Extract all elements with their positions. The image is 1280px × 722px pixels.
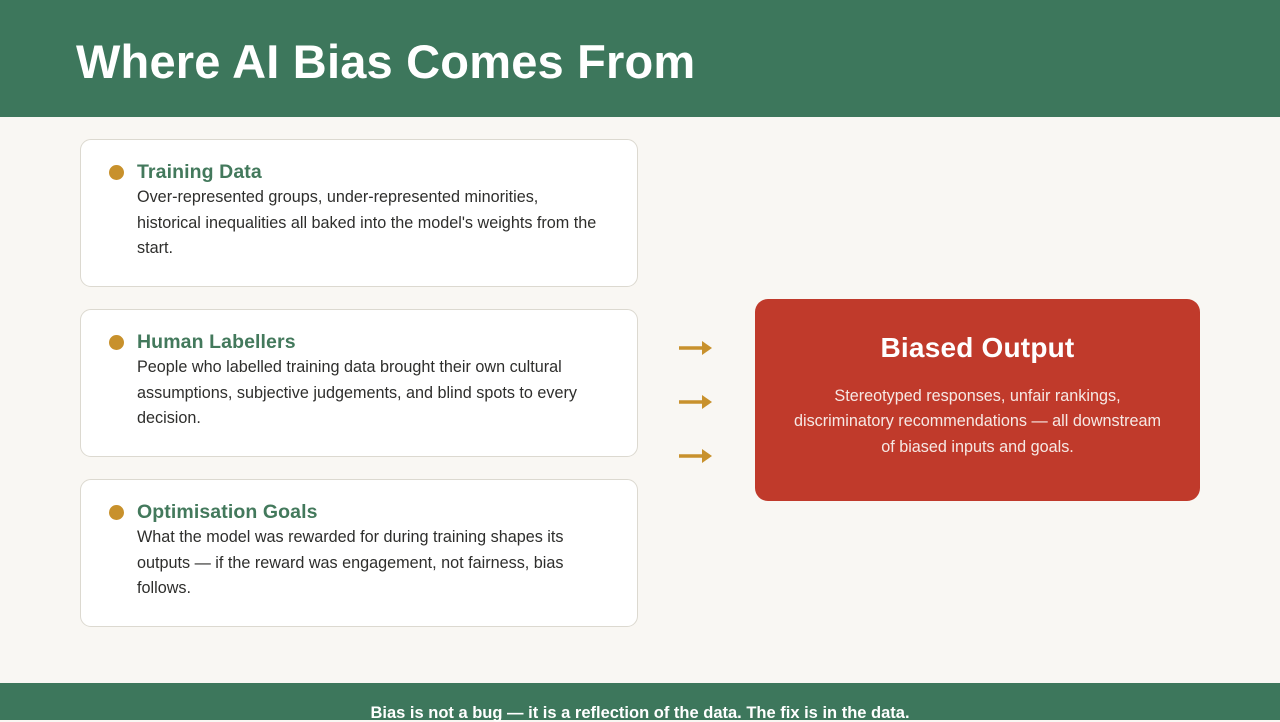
flow-arrow-group	[678, 337, 718, 467]
output-panel-title: Biased Output	[791, 333, 1164, 364]
bias-source-card-human-labellers[interactable]: Human Labellers People who labelled trai…	[80, 309, 638, 457]
page-title: Where AI Bias Comes From	[76, 38, 695, 85]
card-title: Training Data	[137, 162, 262, 183]
bias-source-card-optimisation-goals[interactable]: Optimisation Goals What the model was re…	[80, 479, 638, 627]
arrow-right-icon	[678, 337, 714, 359]
bias-source-card-list: Training Data Over-represented groups, u…	[80, 139, 638, 649]
page-footer: Bias is not a bug — it is a reflection o…	[0, 683, 1280, 720]
arrow-right-icon	[678, 445, 714, 467]
card-title: Human Labellers	[137, 332, 296, 353]
output-panel-description: Stereotyped responses, unfair rankings, …	[791, 384, 1164, 461]
dot-icon	[109, 505, 124, 520]
dot-icon	[109, 335, 124, 350]
bias-source-card-training-data[interactable]: Training Data Over-represented groups, u…	[80, 139, 638, 287]
card-header: Human Labellers	[109, 332, 613, 353]
main-stage: Training Data Over-represented groups, u…	[0, 117, 1280, 683]
dot-icon	[109, 165, 124, 180]
card-description: People who labelled training data brough…	[137, 355, 597, 432]
page-header: Where AI Bias Comes From	[0, 0, 1280, 117]
biased-output-panel[interactable]: Biased Output Stereotyped responses, unf…	[755, 299, 1200, 501]
card-header: Optimisation Goals	[109, 502, 613, 523]
arrow-right-icon	[678, 391, 714, 413]
card-title: Optimisation Goals	[137, 502, 318, 523]
card-description: Over-represented groups, under-represent…	[137, 185, 597, 262]
footer-caption: Bias is not a bug — it is a reflection o…	[0, 705, 1280, 722]
card-header: Training Data	[109, 162, 613, 183]
card-description: What the model was rewarded for during t…	[137, 525, 597, 602]
